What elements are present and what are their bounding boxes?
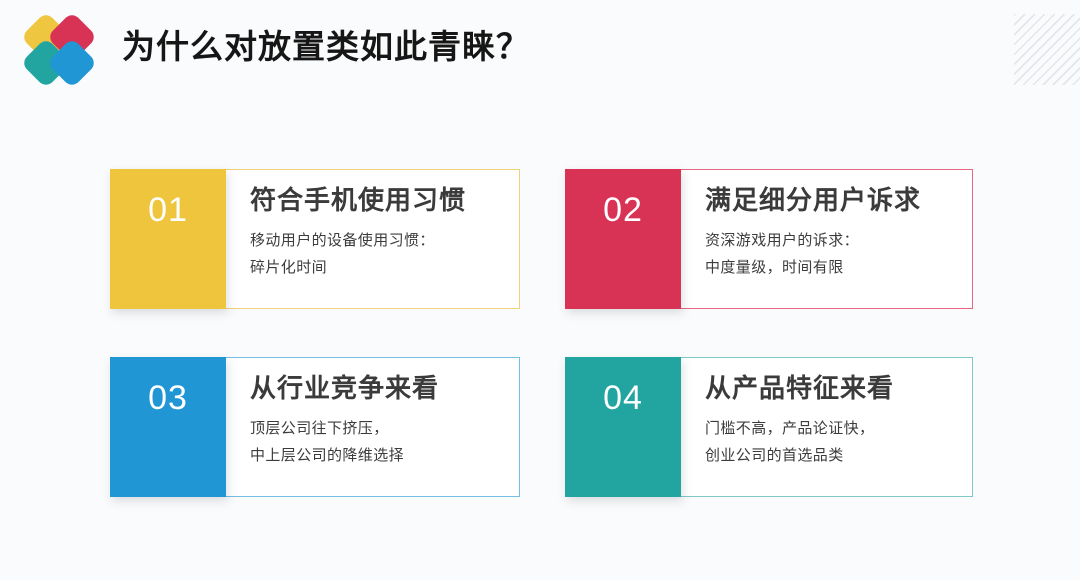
card-number-badge-03: 03 [110, 357, 226, 497]
card-line-04-2: 创业公司的首选品类 [705, 442, 972, 469]
card-line-02-1: 资深游戏用户的诉求： [705, 227, 972, 254]
feature-card-03[interactable]: 03 从行业竞争来看 顶层公司往下挤压， 中上层公司的降维选择 [110, 357, 520, 497]
card-content-04: 从产品特征来看 门槛不高，产品论证快， 创业公司的首选品类 [681, 357, 973, 497]
page-title: 为什么对放置类如此青睐？ [122, 27, 530, 67]
card-title-01: 符合手机使用习惯 [250, 186, 519, 216]
feature-card-01[interactable]: 01 符合手机使用习惯 移动用户的设备使用习惯： 碎片化时间 [110, 169, 520, 309]
card-line-03-2: 中上层公司的降维选择 [250, 442, 519, 469]
card-line-03-1: 顶层公司往下挤压， [250, 415, 519, 442]
card-number-badge-02: 02 [565, 169, 681, 309]
feature-card-04[interactable]: 04 从产品特征来看 门槛不高，产品论证快， 创业公司的首选品类 [565, 357, 973, 497]
brand-diamond-logo [24, 16, 98, 90]
slide-header: 为什么对放置类如此青睐？ [0, 0, 1080, 110]
card-line-04-1: 门槛不高，产品论证快， [705, 415, 972, 442]
card-number-badge-01: 01 [110, 169, 226, 309]
card-line-02-2: 中度量级，时间有限 [705, 254, 972, 281]
card-title-04: 从产品特征来看 [705, 374, 972, 404]
card-line-01-2: 碎片化时间 [250, 254, 519, 281]
card-content-03: 从行业竞争来看 顶层公司往下挤压， 中上层公司的降维选择 [226, 357, 520, 497]
feature-card-02[interactable]: 02 满足细分用户诉求 资深游戏用户的诉求： 中度量级，时间有限 [565, 169, 973, 309]
card-title-03: 从行业竞争来看 [250, 374, 519, 404]
card-content-01: 符合手机使用习惯 移动用户的设备使用习惯： 碎片化时间 [226, 169, 520, 309]
card-line-01-1: 移动用户的设备使用习惯： [250, 227, 519, 254]
card-title-02: 满足细分用户诉求 [705, 186, 972, 216]
card-content-02: 满足细分用户诉求 资深游戏用户的诉求： 中度量级，时间有限 [681, 169, 973, 309]
card-number-badge-04: 04 [565, 357, 681, 497]
